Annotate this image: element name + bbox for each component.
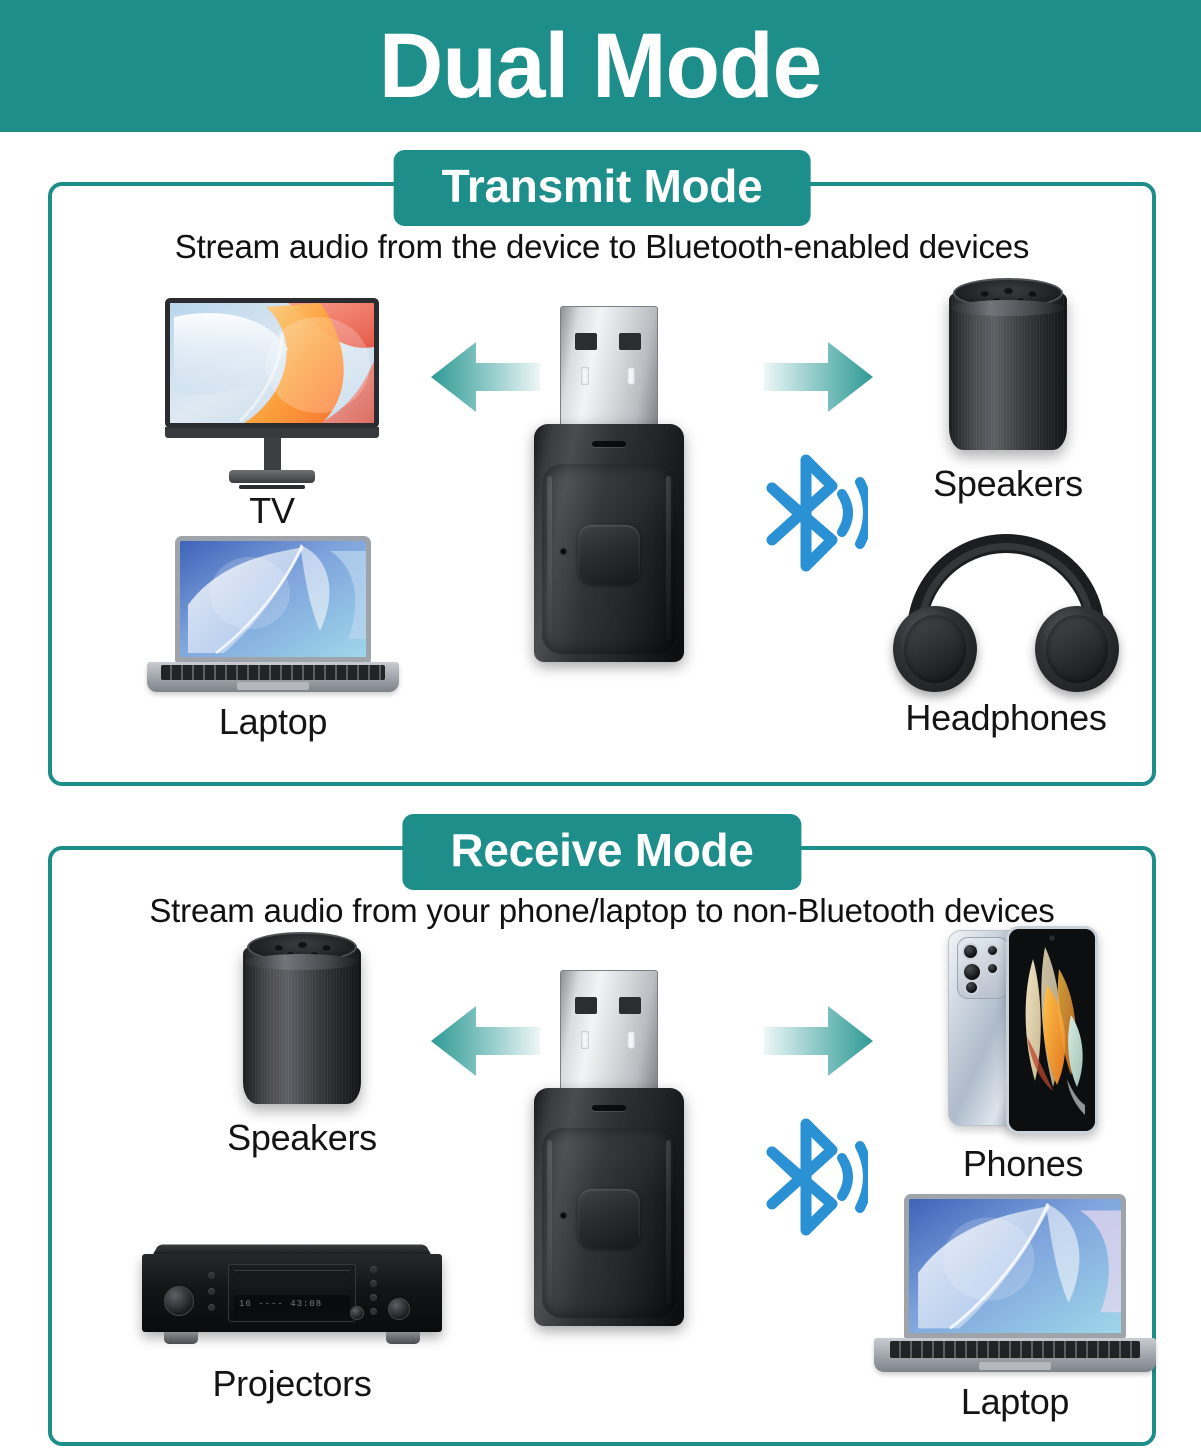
- laptop-trackpad: [237, 682, 309, 690]
- usb-connector: [560, 970, 658, 1096]
- item-phones: Phones: [908, 926, 1138, 1182]
- label-speakers: Speakers: [888, 466, 1128, 502]
- label-laptop: Laptop: [870, 1384, 1160, 1420]
- laptop-base: [147, 662, 399, 692]
- item-headphones: Headphones: [872, 534, 1140, 736]
- item-projectors: 16 ---- 43:08 Projectors: [132, 1240, 452, 1402]
- tv-stand-foot: [229, 470, 315, 483]
- adapter-body: [534, 1088, 684, 1326]
- arrow-left-icon: [430, 341, 540, 418]
- av-disc-panel: 16 ---- 43:08: [228, 1264, 356, 1322]
- usb-bluetooth-adapter: [534, 306, 684, 666]
- adapter-led-indicator: [560, 548, 567, 555]
- laptop-keyboard: [161, 665, 385, 680]
- laptop-wallpaper: [180, 541, 366, 657]
- item-laptop-receive: Laptop: [870, 1194, 1160, 1420]
- earcup-right: [1035, 606, 1119, 692]
- phone-camera-array: [957, 937, 1009, 999]
- header-band: Dual Mode: [0, 0, 1201, 132]
- laptop-keyboard: [890, 1341, 1140, 1358]
- label-laptop: Laptop: [147, 704, 399, 740]
- speaker-collar: [951, 300, 1065, 316]
- headphones-icon: [887, 534, 1125, 694]
- tv-bezel-bar: [165, 427, 379, 438]
- laptop-icon: [175, 536, 371, 662]
- badge-transmit-mode: Transmit Mode: [394, 150, 811, 226]
- tv-wallpaper: [170, 303, 374, 423]
- item-laptop: Laptop: [147, 536, 399, 740]
- arrow-left-icon: [430, 1005, 540, 1082]
- subtitle-transmit-mode: Stream audio from the device to Bluetoot…: [52, 228, 1152, 266]
- phone-front: [1006, 926, 1098, 1134]
- adapter-body: [534, 424, 684, 662]
- earcup-left: [893, 606, 977, 692]
- item-speakers-receive: Speakers: [182, 932, 422, 1156]
- adapter-mode-button[interactable]: [578, 1189, 640, 1247]
- adapter-slot: [592, 1105, 626, 1111]
- phone-icon: [948, 926, 1098, 1134]
- av-display-text: 16 ---- 43:08: [234, 1295, 350, 1309]
- tv-stand-neck: [264, 438, 281, 470]
- phone-wallpaper: [1009, 929, 1095, 1131]
- speaker-icon: [243, 932, 361, 1104]
- laptop-icon: [904, 1194, 1126, 1338]
- av-power-knob: [164, 1286, 194, 1316]
- item-tv: TV: [165, 298, 379, 529]
- section-transmit-mode: Transmit Mode Stream audio from the devi…: [48, 182, 1156, 786]
- usb-connector: [560, 306, 658, 432]
- adapter-mode-button[interactable]: [578, 525, 640, 583]
- speaker-icon: [949, 278, 1067, 450]
- av-receiver-icon: 16 ---- 43:08: [142, 1240, 442, 1344]
- av-display: 16 ---- 43:08: [234, 1295, 350, 1315]
- bluetooth-signal-icon: [750, 452, 868, 579]
- adapter-led-indicator: [560, 1212, 567, 1219]
- item-speakers: Speakers: [888, 278, 1128, 502]
- av-jack: [350, 1306, 364, 1320]
- av-foot-left: [164, 1332, 198, 1344]
- laptop-trackpad: [979, 1362, 1051, 1370]
- speaker-collar: [245, 954, 359, 970]
- av-foot-right: [386, 1332, 420, 1344]
- tv-stand-shadow: [239, 485, 305, 489]
- av-volume-knob: [388, 1298, 410, 1320]
- usb-bluetooth-adapter: [534, 970, 684, 1330]
- badge-receive-mode: Receive Mode: [402, 814, 801, 890]
- label-projectors: Projectors: [132, 1366, 452, 1402]
- bluetooth-signal-icon: [750, 1116, 868, 1243]
- arrow-right-icon: [764, 1005, 874, 1082]
- arrow-right-icon: [764, 341, 874, 418]
- subtitle-receive-mode: Stream audio from your phone/laptop to n…: [52, 892, 1152, 930]
- av-front-panel: 16 ---- 43:08: [142, 1254, 442, 1332]
- page-title: Dual Mode: [379, 20, 821, 112]
- laptop-wallpaper: [909, 1199, 1121, 1333]
- section-receive-mode: Receive Mode Stream audio from your phon…: [48, 846, 1156, 1446]
- av-disc-tray: [234, 1270, 350, 1287]
- label-headphones: Headphones: [872, 700, 1140, 736]
- label-tv: TV: [165, 493, 379, 529]
- adapter-slot: [592, 441, 626, 447]
- tv-monitor-icon: [165, 298, 379, 428]
- label-speakers: Speakers: [182, 1120, 422, 1156]
- label-phones: Phones: [908, 1146, 1138, 1182]
- laptop-base: [874, 1338, 1156, 1372]
